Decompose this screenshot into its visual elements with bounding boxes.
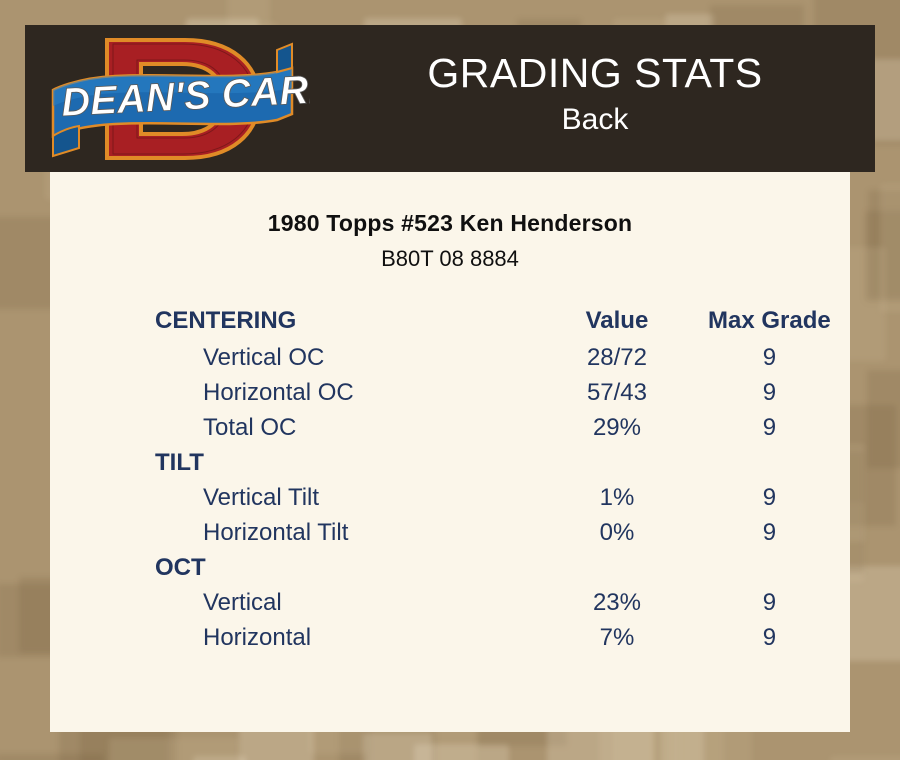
table-row: Horizontal OC57/439 [50, 375, 850, 410]
card-serial-number: B80T 08 8884 [50, 246, 850, 272]
stat-max-grade [689, 445, 850, 480]
stat-label: Vertical [50, 585, 545, 620]
stat-value: 7% [545, 620, 689, 655]
stat-max-grade: 9 [689, 410, 850, 445]
background-card-blob [0, 754, 104, 760]
table-row: Horizontal7%9 [50, 620, 850, 655]
section-row: CENTERINGValueMax Grade [50, 302, 850, 340]
stat-label: Horizontal [50, 620, 545, 655]
background-card-blob [109, 738, 239, 760]
stat-label: Horizontal Tilt [50, 515, 545, 550]
table-row: Vertical Tilt1%9 [50, 480, 850, 515]
background-card-blob [867, 370, 900, 467]
stat-value: 0% [545, 515, 689, 550]
stat-label: Vertical Tilt [50, 480, 545, 515]
stat-max-grade: 9 [689, 515, 850, 550]
content-panel: 1980 Topps #523 Ken Henderson B80T 08 88… [50, 172, 850, 732]
section-label: CENTERING [50, 302, 545, 340]
stat-value: 28/72 [545, 340, 689, 375]
stat-max-grade: 9 [689, 375, 850, 410]
stat-value [545, 445, 689, 480]
value-column-header: Value [545, 302, 689, 340]
background-card-blob [363, 733, 432, 760]
stat-value: 57/43 [545, 375, 689, 410]
stat-max-grade: 9 [689, 340, 850, 375]
table-row: Total OC29%9 [50, 410, 850, 445]
header-bar: DEAN'S CARDS GRADING STATS Back [25, 25, 875, 172]
stat-value: 1% [545, 480, 689, 515]
page-subtitle: Back [315, 100, 875, 140]
section-row: OCT [50, 550, 850, 585]
stat-max-grade: 9 [689, 585, 850, 620]
stat-value [545, 550, 689, 585]
table-row: Vertical OC28/729 [50, 340, 850, 375]
stat-value: 29% [545, 410, 689, 445]
logo-artwork: DEAN'S CARDS [45, 28, 310, 170]
page-title: GRADING STATS [315, 49, 875, 97]
card-title: 1980 Topps #523 Ken Henderson [50, 210, 850, 237]
grading-stats-table: CENTERINGValueMax GradeVertical OC28/729… [50, 302, 850, 655]
stat-max-grade [689, 550, 850, 585]
section-row: TILT [50, 445, 850, 480]
section-label: TILT [50, 445, 545, 480]
header-titles: GRADING STATS Back [315, 49, 875, 140]
stat-value: 23% [545, 585, 689, 620]
deans-cards-logo: DEAN'S CARDS [45, 28, 310, 170]
stat-label: Total OC [50, 410, 545, 445]
background-card-blob [880, 184, 900, 311]
table-row: Horizontal Tilt0%9 [50, 515, 850, 550]
background-card-blob [830, 756, 900, 760]
stat-max-grade: 9 [689, 480, 850, 515]
stat-label: Vertical OC [50, 340, 545, 375]
stat-max-grade: 9 [689, 620, 850, 655]
grade-column-header: Max Grade [689, 302, 850, 340]
section-label: OCT [50, 550, 545, 585]
table-row: Vertical23%9 [50, 585, 850, 620]
stat-label: Horizontal OC [50, 375, 545, 410]
